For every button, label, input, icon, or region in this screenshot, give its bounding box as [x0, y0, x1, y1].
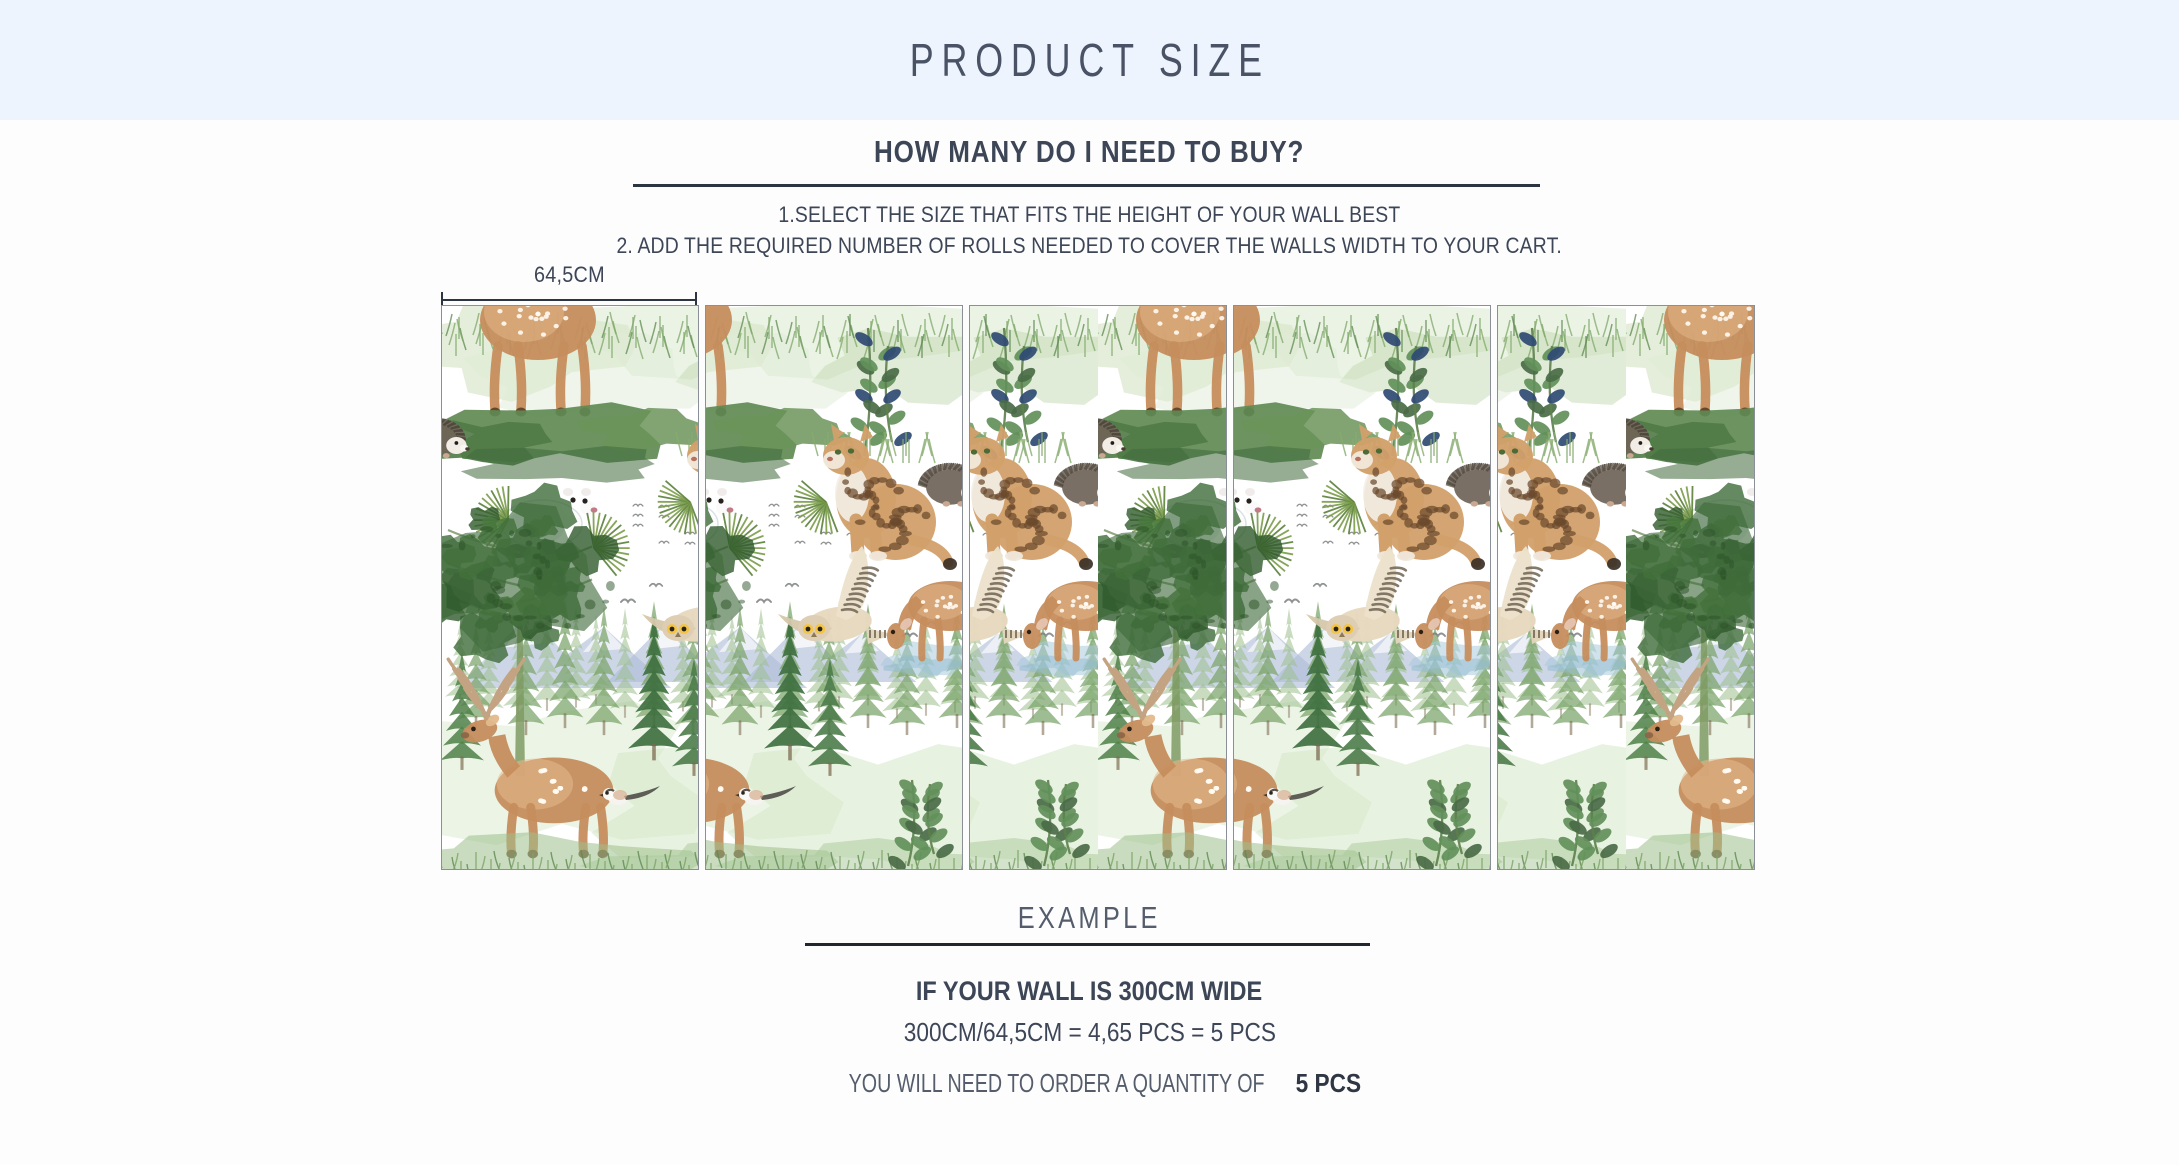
subheading-block: HOW MANY DO I NEED TO BUY?	[0, 134, 2179, 170]
page-title: PRODUCT SIZE	[909, 33, 1269, 87]
example-divider	[805, 943, 1370, 946]
example-line-1-text: IF YOUR WALL IS 300CM WIDE	[916, 976, 1262, 1007]
wallpaper-panel[interactable]	[441, 305, 699, 870]
dimension-line	[441, 299, 697, 301]
example-title-text: EXAMPLE	[1018, 900, 1161, 936]
subheading-divider	[633, 184, 1540, 187]
roll-width-dimension: 64,5CM	[441, 262, 697, 308]
wallpaper-panel[interactable]	[969, 305, 1227, 870]
dimension-label: 64,5CM	[441, 262, 697, 288]
example-line-3: YOU WILL NEED TO ORDER A QUANTITY OF 5 P…	[0, 1068, 2179, 1099]
wallpaper-panel[interactable]	[1497, 305, 1755, 870]
instruction-line-1: 1.SELECT THE SIZE THAT FITS THE HEIGHT O…	[0, 202, 2179, 228]
wallpaper-panel-row	[441, 305, 1738, 870]
instruction-line-2: 2. ADD THE REQUIRED NUMBER OF ROLLS NEED…	[0, 233, 2179, 259]
example-line-2: 300CM/64,5CM = 4,65 PCS = 5 PCS	[0, 1017, 2179, 1048]
header-banner: PRODUCT SIZE	[0, 0, 2179, 120]
subheading-title: HOW MANY DO I NEED TO BUY?	[874, 134, 1304, 170]
wallpaper-panel[interactable]	[1233, 305, 1491, 870]
wallpaper-panel[interactable]	[705, 305, 963, 870]
example-title: EXAMPLE	[0, 900, 2179, 936]
example-line-3-quantity: 5 PCS	[1296, 1068, 1361, 1098]
example-line-3-prefix: YOU WILL NEED TO ORDER A QUANTITY OF	[849, 1068, 1265, 1099]
example-line-1: IF YOUR WALL IS 300CM WIDE	[0, 976, 2179, 1007]
example-line-2-text: 300CM/64,5CM = 4,65 PCS = 5 PCS	[903, 1017, 1275, 1048]
instruction-line-2-text: 2. ADD THE REQUIRED NUMBER OF ROLLS NEED…	[617, 233, 1563, 259]
dimension-label-text: 64,5CM	[534, 262, 605, 288]
example-line-3-text: YOU WILL NEED TO ORDER A QUANTITY OF 5 P…	[818, 1068, 1361, 1099]
instruction-line-1-text: 1.SELECT THE SIZE THAT FITS THE HEIGHT O…	[779, 202, 1401, 228]
